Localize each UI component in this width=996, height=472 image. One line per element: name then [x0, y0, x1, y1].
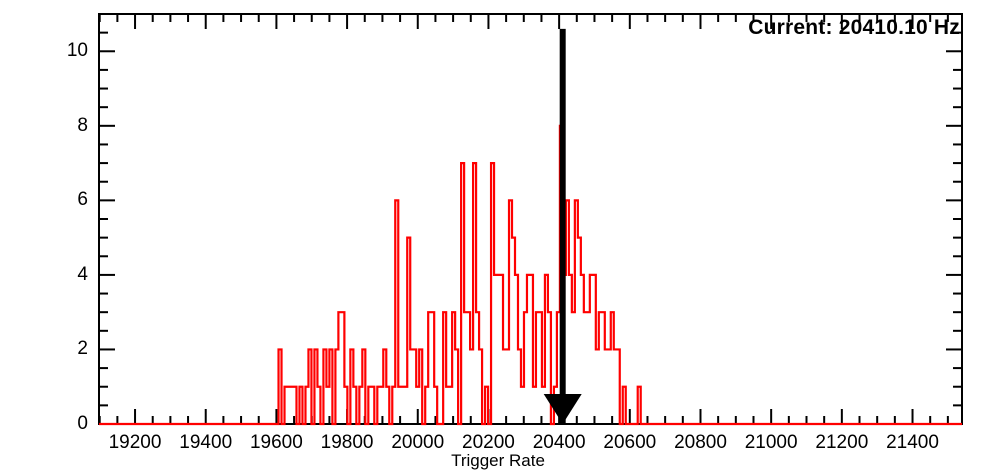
current-value-marker: [544, 29, 582, 424]
plot-drawing-layer: [0, 0, 996, 472]
y-tick-label: 0: [40, 413, 88, 435]
y-tick-label: 6: [40, 189, 88, 211]
current-rate-readout: Current: 20410.10 Hz: [748, 16, 960, 40]
histogram-canvas-root: 0246810 19200194001960019800200002020020…: [0, 0, 996, 472]
y-tick-label: 8: [40, 115, 88, 137]
y-tick-label: 4: [40, 264, 88, 286]
y-axis-ticks: [99, 14, 962, 424]
x-axis-title: Trigger Rate: [0, 451, 996, 471]
y-tick-label: 10: [40, 40, 88, 62]
histogram-series: [99, 126, 962, 424]
y-tick-label: 2: [40, 338, 88, 360]
